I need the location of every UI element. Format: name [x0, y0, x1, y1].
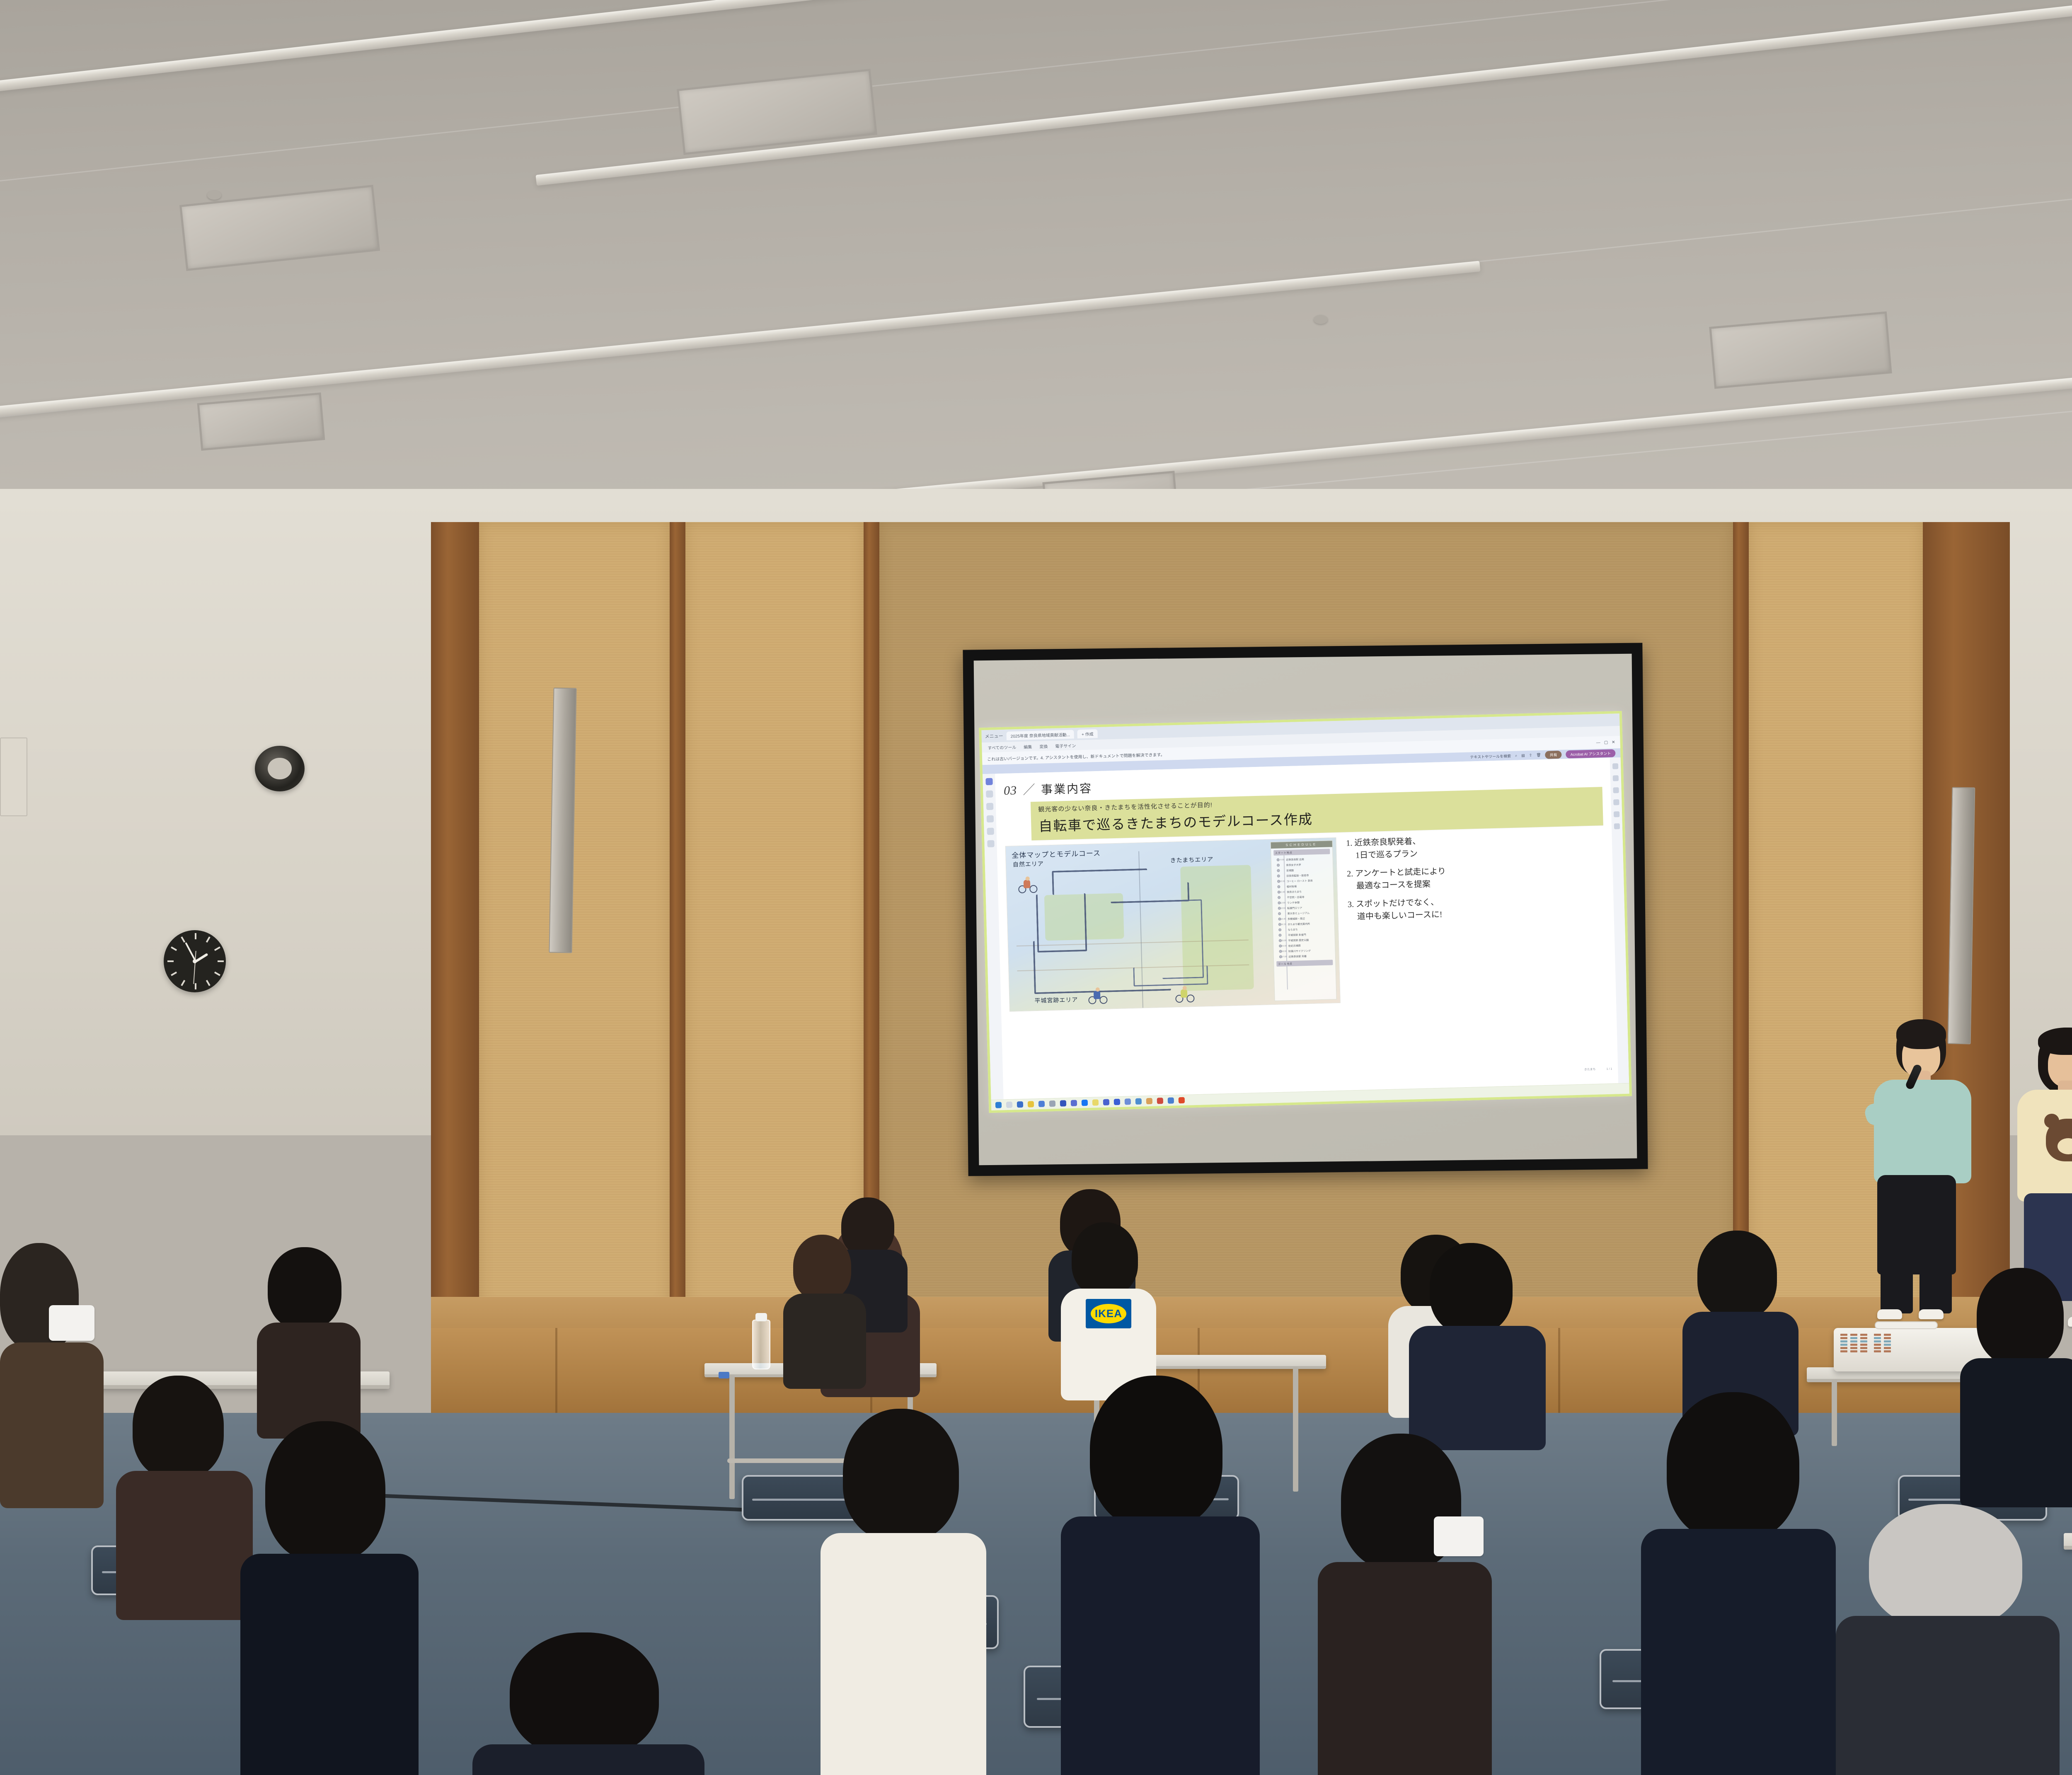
audience-member: [1641, 1392, 1836, 1775]
schedule-item-label: 東大寺ミュージアム: [1288, 911, 1310, 915]
audience-member: [783, 1235, 866, 1384]
presenter-right-shoe: [1919, 1309, 1944, 1319]
slide-separator: ／: [1022, 779, 1035, 798]
schedule-item-label: 奈良女子大学: [1286, 863, 1301, 867]
face-mask: [1434, 1516, 1484, 1556]
schedule-item-label: 佐紀古墳群: [1288, 943, 1301, 948]
signature-tool-icon[interactable]: [987, 840, 994, 847]
desk-leg: [729, 1375, 735, 1499]
schedule-item-dot: [1276, 858, 1279, 861]
upload-icon[interactable]: ⇪: [1529, 753, 1532, 757]
key-point-1-line1: 1. 近鉄奈良駅発着、: [1346, 837, 1421, 848]
browser-menu-label[interactable]: メニュー: [985, 733, 1003, 740]
schedule-item-dot: [1279, 945, 1282, 948]
notice-text: これは古いバージョンです。4. アシスタントを使用し、新ドキュメントで問題を解決…: [987, 751, 1165, 762]
wall-panel: [0, 738, 27, 816]
windows-start-icon[interactable]: [995, 1102, 1002, 1108]
key-point-1: 1. 近鉄奈良駅発着、 1日で巡るプラン: [1346, 830, 1604, 862]
wood-column: [1733, 522, 1749, 1309]
key-point-2-line1: 2. アンケートと試走により: [1347, 867, 1446, 878]
presenter-left-shoe: [1877, 1309, 1902, 1319]
photos-icon[interactable]: [1071, 1100, 1077, 1106]
wall-panel-texture: [685, 522, 864, 1309]
mixer-handle[interactable]: [1875, 1321, 1938, 1329]
schedule-item-dot: [1278, 902, 1280, 904]
adobe-icon[interactable]: [1179, 1097, 1185, 1103]
schedule-item-label: 秋篠川サイクリング: [1288, 949, 1311, 953]
audience-member: [0, 1243, 104, 1500]
presentation-slide: 03 ／ 事業内容 観光客の少ない奈良・きたまちを活性化させることが目的! 自転…: [995, 758, 1618, 1100]
audience-member: [1960, 1268, 2072, 1500]
audience-member: [1061, 1376, 1260, 1775]
window-close-button[interactable]: ✕: [1612, 740, 1615, 745]
audience-member: [1409, 1243, 1546, 1438]
trash-icon[interactable]: 🗑: [1536, 752, 1541, 757]
highlight-tool-icon[interactable]: [986, 803, 993, 810]
schedule-item-dot: [1277, 885, 1280, 888]
audience-member: IKEA: [1061, 1222, 1156, 1396]
browser-tab[interactable]: 2025年度 奈良県地域貢献活動...: [1006, 730, 1074, 740]
wood-column: [670, 522, 685, 1309]
bear-motif-icon: [2046, 1119, 2072, 1161]
key-point-2: 2. アンケートと試走により 最適なコースを提案: [1347, 861, 1605, 892]
schedule-item-dot: [1278, 934, 1281, 937]
schedule-item-dot: [1277, 864, 1280, 867]
audience-member: [257, 1247, 361, 1429]
wall-clock: [164, 930, 226, 992]
audience-member: [1836, 1504, 2060, 1775]
smoke-detector-icon: [207, 191, 221, 200]
file-explorer-icon[interactable]: [1017, 1101, 1023, 1108]
menu-item-edit[interactable]: 編集: [1024, 743, 1032, 750]
facebook-icon[interactable]: [1082, 1100, 1088, 1106]
map-label-nature: 自然エリア: [1013, 859, 1044, 868]
schedule-item-dot: [1279, 950, 1282, 953]
schedule-item-dot: [1277, 891, 1280, 894]
schedule-item-label: 吉城園: [1286, 868, 1294, 872]
audience-member: [240, 1421, 419, 1775]
schedule-panel: SCHEDULE スタート地点 9:30近鉄奈良駅 出発奈良女子大学吉城園旧奈良…: [1270, 840, 1336, 1001]
presenter-bangs: [1896, 1019, 1946, 1049]
map-label-heijo: 平城宮跡エリア: [1034, 995, 1078, 1005]
slide-section-number: 03: [1004, 784, 1017, 798]
wood-column: [864, 522, 879, 1309]
schedule-item-dot: [1279, 955, 1282, 958]
ikea-logo-text: IKEA: [1091, 1304, 1126, 1323]
schedule-item-dot: [1277, 869, 1280, 872]
schedule-item-label: コーヒー ロースト 奈良: [1286, 879, 1312, 883]
presenter-trousers: [1877, 1175, 1956, 1274]
wall-heater-right: [1948, 787, 1975, 1045]
edge-icon[interactable]: [1038, 1101, 1045, 1107]
water-bottle: [752, 1320, 770, 1369]
cyclist-illustration: [1018, 876, 1038, 893]
slide-page-indicator: 1 / 1: [1607, 1067, 1612, 1070]
schedule-header: SCHEDULE: [1271, 841, 1332, 849]
presenter-right-arm: [1919, 1094, 1943, 1148]
projected-browser-window[interactable]: メニュー 2025年度 奈良県地域貢献活動... + 作成 すべてのツール 編集…: [979, 711, 1632, 1113]
wall-vent-icon: [255, 746, 305, 791]
route-map-figure: 全体マップとモデルコース 自然エリア きたまちエリア 平城宮跡エリア: [1005, 837, 1341, 1012]
schedule-item-dot: [1277, 880, 1280, 883]
ikea-logo: IKEA: [1086, 1299, 1131, 1328]
comment-tool-icon[interactable]: [986, 815, 993, 822]
speaker-icon[interactable]: [1168, 1097, 1174, 1103]
cyclist-illustration: [1175, 986, 1195, 1003]
audience-member: [821, 1409, 986, 1775]
schedule-item-list: 9:30近鉄奈良駅 出発奈良女子大学吉城園旧奈良監獄・般若寺10:30コーヒー …: [1271, 856, 1335, 960]
presenter2-sweater: [2017, 1090, 2072, 1202]
schedule-item-label: 平城宮跡 歴史公園: [1288, 938, 1309, 942]
slide-section-title: 事業内容: [1041, 779, 1093, 797]
schedule-item-label: きたまち観光案内所: [1288, 922, 1310, 926]
schedule-item-label: 近鉄奈良駅 到着: [1288, 954, 1307, 958]
window-maximize-button[interactable]: ▢: [1604, 740, 1608, 745]
acrobat-icon[interactable]: [1157, 1098, 1163, 1104]
schedule-item-dot: [1277, 875, 1280, 878]
audience-member: [116, 1376, 253, 1608]
zoom-icon[interactable]: [1125, 1098, 1131, 1105]
schedule-item: 17:00近鉄奈良駅 到着: [1273, 953, 1335, 960]
search-icon[interactable]: ⌕: [1515, 753, 1517, 758]
menu-item-esign[interactable]: 電子サイン: [1055, 742, 1076, 749]
schedule-item-dot: [1278, 896, 1280, 899]
edit-pdf-icon[interactable]: [1613, 775, 1619, 781]
map-title: 全体マップとモデルコース: [1012, 847, 1101, 860]
audience-desk: [2064, 1533, 2072, 1550]
slide-canvas-area: 03 ／ 事業内容 観光客の少ない奈良・きたまちを活性化させることが目的! 自転…: [983, 757, 1629, 1100]
schedule-item-dot: [1278, 939, 1281, 942]
protect-icon[interactable]: [1614, 811, 1619, 817]
slide-footer: きたまち 1 / 1: [1584, 1067, 1612, 1072]
window-minimize-button[interactable]: —: [1596, 740, 1600, 745]
schedule-item-label: ランチ休憩: [1287, 900, 1300, 904]
schedule-end-tag: ゴール地点: [1276, 960, 1333, 967]
audience-member: [472, 1632, 704, 1775]
slide-footer-note: きたまち: [1584, 1067, 1596, 1072]
sidebar-icon[interactable]: ▤: [1521, 753, 1525, 758]
smoke-detector-icon: [1314, 315, 1328, 324]
schedule-item-label: 近鉄奈良駅 出発: [1286, 857, 1304, 861]
schedule-item-dot: [1278, 923, 1281, 926]
schedule-item-label: 平城宮跡 朱雀門: [1288, 933, 1306, 937]
schedule-item-label: 旧奈良監獄・般若寺: [1286, 873, 1309, 878]
more-tools-icon[interactable]: [1614, 823, 1620, 829]
slide-body: 全体マップとモデルコース 自然エリア きたまちエリア 平城宮跡エリア: [1005, 830, 1608, 1012]
wood-column: [431, 522, 479, 1309]
ai-assistant-button[interactable]: Acrobat AI アシスタント: [1566, 749, 1615, 758]
schedule-item-label: 植村牧場: [1287, 885, 1297, 889]
search-icon[interactable]: [1006, 1102, 1012, 1108]
face-mask: [49, 1305, 94, 1341]
notepad-icon[interactable]: [1028, 1101, 1034, 1107]
key-point-3: 3. スポットだけでなく、 道中も楽しいコースに!: [1348, 892, 1606, 923]
cyclist-illustration: [1088, 987, 1108, 1004]
teams-icon[interactable]: [1103, 1099, 1109, 1105]
slide-key-points: 1. 近鉄奈良駅発着、 1日で巡るプラン 2. アンケートと試走により 最適なコ…: [1343, 830, 1608, 1003]
projection-screen-surface: メニュー 2025年度 奈良県地域貢献活動... + 作成 すべてのツール 編集…: [974, 654, 1637, 1166]
schedule-item-label: ならまち: [1288, 927, 1298, 931]
water-icon[interactable]: [1135, 1098, 1142, 1105]
schedule-start-tag: スタート地点: [1273, 849, 1330, 856]
menu-item-convert[interactable]: 変換: [1039, 743, 1048, 750]
music-icon[interactable]: [1060, 1100, 1066, 1106]
wall-heater-left: [549, 688, 576, 953]
audience-member: [1318, 1434, 1492, 1775]
schedule-item-label: 転害門エリア: [1287, 906, 1302, 910]
terminal-icon[interactable]: [1092, 1099, 1099, 1105]
schedule-item-dot: [1278, 907, 1280, 910]
desk-leg: [1293, 1367, 1298, 1492]
new-tab-button[interactable]: + 作成: [1077, 729, 1098, 738]
schedule-item-dot: [1278, 912, 1281, 915]
zoom-tool-icon[interactable]: [986, 791, 993, 798]
export-icon[interactable]: [1612, 763, 1618, 769]
organize-icon[interactable]: [1613, 787, 1619, 793]
wall-panel-texture: [479, 522, 670, 1309]
stamp-tool-icon[interactable]: [987, 828, 994, 835]
settings-icon[interactable]: [1049, 1100, 1055, 1107]
schedule-item-label: 奈良きたまち: [1287, 890, 1302, 894]
compress-icon[interactable]: [1613, 799, 1619, 805]
menu-item-all-tools[interactable]: すべてのツール: [988, 744, 1016, 751]
schedule-item-dot: [1278, 929, 1281, 931]
share-button[interactable]: 共有: [1545, 750, 1561, 759]
map-route-segment: [1133, 965, 1208, 987]
outlook-icon[interactable]: [1114, 1099, 1120, 1105]
select-tool-icon[interactable]: [985, 778, 992, 785]
alert-icon[interactable]: [1146, 1098, 1152, 1104]
schedule-item-label: 多聞城跡・周辺: [1288, 917, 1305, 921]
schedule-item-dot: [1278, 918, 1281, 921]
toolbar-search[interactable]: テキストやツールを検索: [1470, 753, 1511, 759]
projection-screen-frame: メニュー 2025年度 奈良県地域貢献活動... + 作成 すべてのツール 編集…: [963, 643, 1648, 1176]
map-label-kitamachi: きたまちエリア: [1170, 855, 1213, 865]
presentation-hall-scene: メニュー 2025年度 奈良県地域貢献活動... + 作成 すべてのツール 編集…: [0, 0, 2072, 1775]
schedule-item-label: 不空院・白毫寺: [1287, 895, 1305, 899]
key-point-3-line1: 3. スポットだけでなく、: [1348, 898, 1439, 909]
